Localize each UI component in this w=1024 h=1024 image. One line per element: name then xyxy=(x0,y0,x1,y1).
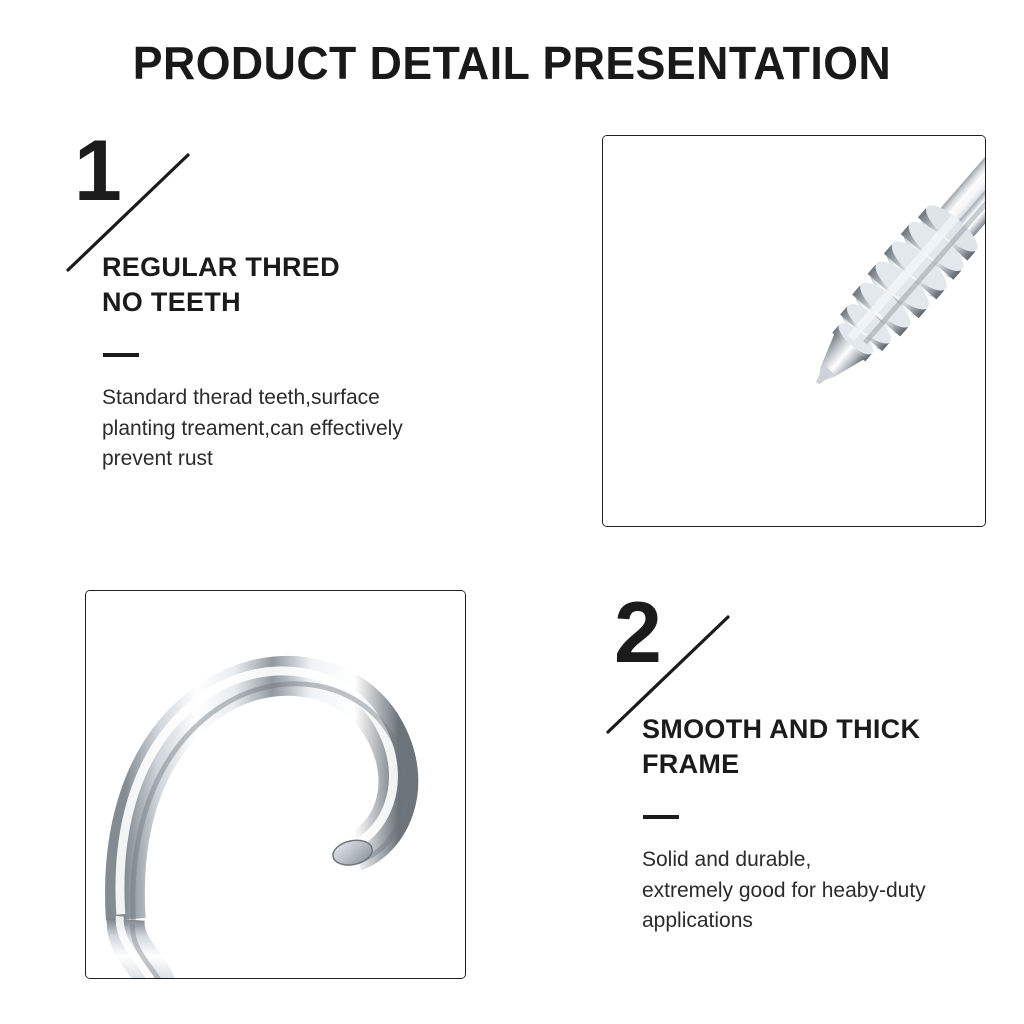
section-1-body: Standard therad teeth,surface planting t… xyxy=(102,383,403,475)
section-2-text-block: 2 SMOOTH AND THICK FRAME Solid and durab… xyxy=(602,602,1002,737)
page-title: PRODUCT DETAIL PRESENTATION xyxy=(15,36,1008,90)
hook-photo-frame xyxy=(85,590,466,979)
section-2-number: 2 xyxy=(614,590,662,676)
section-1-divider xyxy=(103,353,139,357)
section-2-headline: SMOOTH AND THICK FRAME xyxy=(642,712,920,781)
section-2-body: Solid and durable, extremely good for he… xyxy=(642,845,926,937)
screw-photo-frame xyxy=(602,135,986,527)
section-2-divider xyxy=(643,815,679,819)
section-1-text-block: 1 REGULAR THRED NO TEETH Standard therad… xyxy=(62,140,502,275)
chrome-cup-hook-illustration xyxy=(86,591,465,978)
section-1-number: 1 xyxy=(74,128,122,214)
section-1-headline: REGULAR THRED NO TEETH xyxy=(102,250,340,319)
threaded-screw-illustration xyxy=(603,136,985,526)
